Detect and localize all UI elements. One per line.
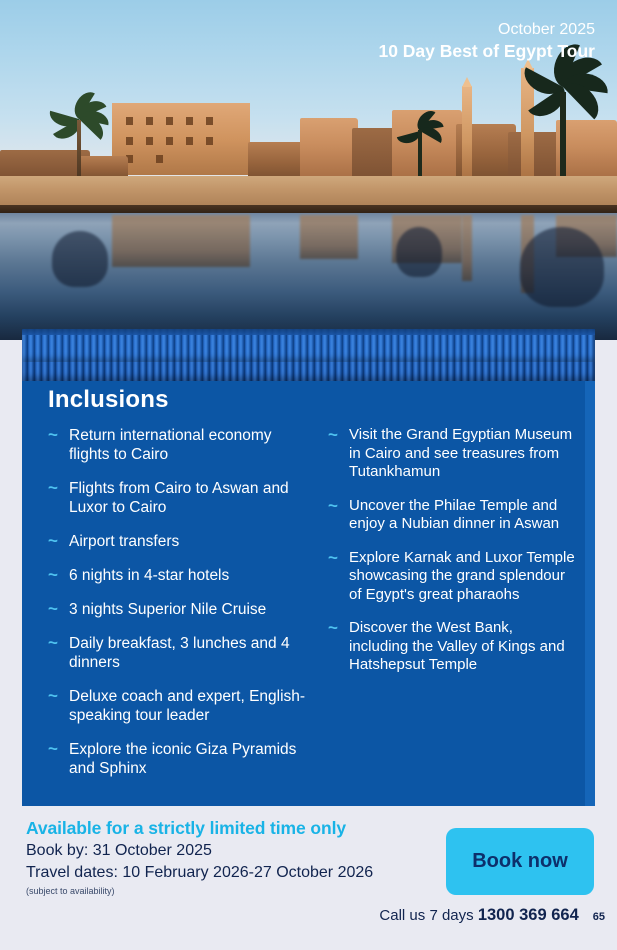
tilde-bullet-icon: ~	[328, 620, 340, 635]
hero-photo: October 2025 10 Day Best of Egypt Tour	[0, 0, 617, 340]
karnak-pylon	[112, 103, 250, 175]
tilde-bullet-icon: ~	[48, 741, 60, 756]
inclusions-right-column: ~ Visit the Grand Egyptian Museum in Cai…	[328, 426, 576, 793]
call-us-line: Call us 7 days 1300 369 664	[379, 906, 578, 925]
panel-right-edge	[585, 368, 595, 806]
list-item-label: 6 nights in 4-star hotels	[69, 566, 229, 585]
list-item-label: Deluxe coach and expert, English-speakin…	[69, 687, 306, 725]
inclusions-panel: Inclusions ~ Return international econom…	[22, 368, 595, 806]
list-item: ~ 6 nights in 4-star hotels	[48, 566, 306, 585]
list-item-label: Explore the iconic Giza Pyramids and Sph…	[69, 740, 306, 778]
inclusions-left-column: ~ Return international economy flights t…	[48, 426, 306, 793]
booking-info: Available for a strictly limited time on…	[26, 818, 446, 896]
list-item: ~ Flights from Cairo to Aswan and Luxor …	[48, 479, 306, 517]
issue-month: October 2025	[378, 20, 595, 40]
tilde-bullet-icon: ~	[48, 567, 60, 582]
inclusions-columns: ~ Return international economy flights t…	[48, 426, 578, 793]
list-item: ~ Uncover the Philae Temple and enjoy a …	[328, 497, 576, 534]
ruin-block-b	[300, 118, 358, 178]
tilde-bullet-icon: ~	[48, 480, 60, 495]
list-item: ~ Daily breakfast, 3 lunches and 4 dinne…	[48, 634, 306, 672]
list-item: ~ Return international economy flights t…	[48, 426, 306, 464]
palm-tree-left	[48, 108, 110, 180]
list-item-label: Visit the Grand Egyptian Museum in Cairo…	[349, 426, 576, 482]
hero-header-text: October 2025 10 Day Best of Egypt Tour	[378, 20, 595, 62]
panel-title: Inclusions	[48, 386, 169, 414]
call-us-label: Call us 7 days	[379, 907, 473, 924]
list-item-label: Airport transfers	[69, 532, 179, 551]
palm-tree-mid	[396, 120, 444, 180]
list-item-label: Explore Karnak and Luxor Temple showcasi…	[349, 549, 576, 605]
list-item: ~ Deluxe coach and expert, English-speak…	[48, 687, 306, 725]
list-item-label: 3 nights Superior Nile Cruise	[69, 600, 266, 619]
tour-title: 10 Day Best of Egypt Tour	[378, 40, 595, 62]
decorative-fringe-valance	[22, 329, 595, 385]
footer: Call us 7 days 1300 369 664 65	[379, 906, 605, 925]
tilde-bullet-icon: ~	[328, 498, 340, 513]
tilde-bullet-icon: ~	[48, 635, 60, 650]
phone-number[interactable]: 1300 369 664	[478, 906, 579, 924]
fringe-top-edge	[22, 329, 595, 335]
list-item-label: Flights from Cairo to Aswan and Luxor to…	[69, 479, 306, 517]
travel-dates: Travel dates: 10 February 2026-27 Octobe…	[26, 862, 446, 883]
tilde-bullet-icon: ~	[48, 601, 60, 616]
list-item-label: Daily breakfast, 3 lunches and 4 dinners	[69, 634, 306, 672]
availability-headline: Available for a strictly limited time on…	[26, 818, 446, 839]
tilde-bullet-icon: ~	[48, 533, 60, 548]
subject-to-availability-note: (subject to availability)	[26, 886, 446, 896]
obelisk-small	[462, 86, 472, 178]
list-item: ~ Airport transfers	[48, 532, 306, 551]
list-item-label: Uncover the Philae Temple and enjoy a Nu…	[349, 497, 576, 534]
list-item: ~ Visit the Grand Egyptian Museum in Cai…	[328, 426, 576, 482]
tilde-bullet-icon: ~	[328, 550, 340, 565]
palm-tree-right	[520, 76, 606, 180]
book-now-button[interactable]: Book now	[446, 828, 594, 895]
list-item-label: Discover the West Bank, including the Va…	[349, 619, 576, 675]
book-by-date: Book by: 31 October 2025	[26, 840, 446, 861]
list-item: ~ 3 nights Superior Nile Cruise	[48, 600, 306, 619]
tilde-bullet-icon: ~	[48, 688, 60, 703]
list-item: ~ Explore the iconic Giza Pyramids and S…	[48, 740, 306, 778]
sacred-lake-water	[0, 213, 617, 340]
list-item: ~ Discover the West Bank, including the …	[328, 619, 576, 675]
list-item-label: Return international economy flights to …	[69, 426, 306, 464]
page-number: 65	[593, 911, 605, 923]
tilde-bullet-icon: ~	[48, 427, 60, 442]
tilde-bullet-icon: ~	[328, 427, 340, 442]
brochure-page: October 2025 10 Day Best of Egypt Tour I…	[0, 0, 617, 950]
list-item: ~ Explore Karnak and Luxor Temple showca…	[328, 549, 576, 605]
